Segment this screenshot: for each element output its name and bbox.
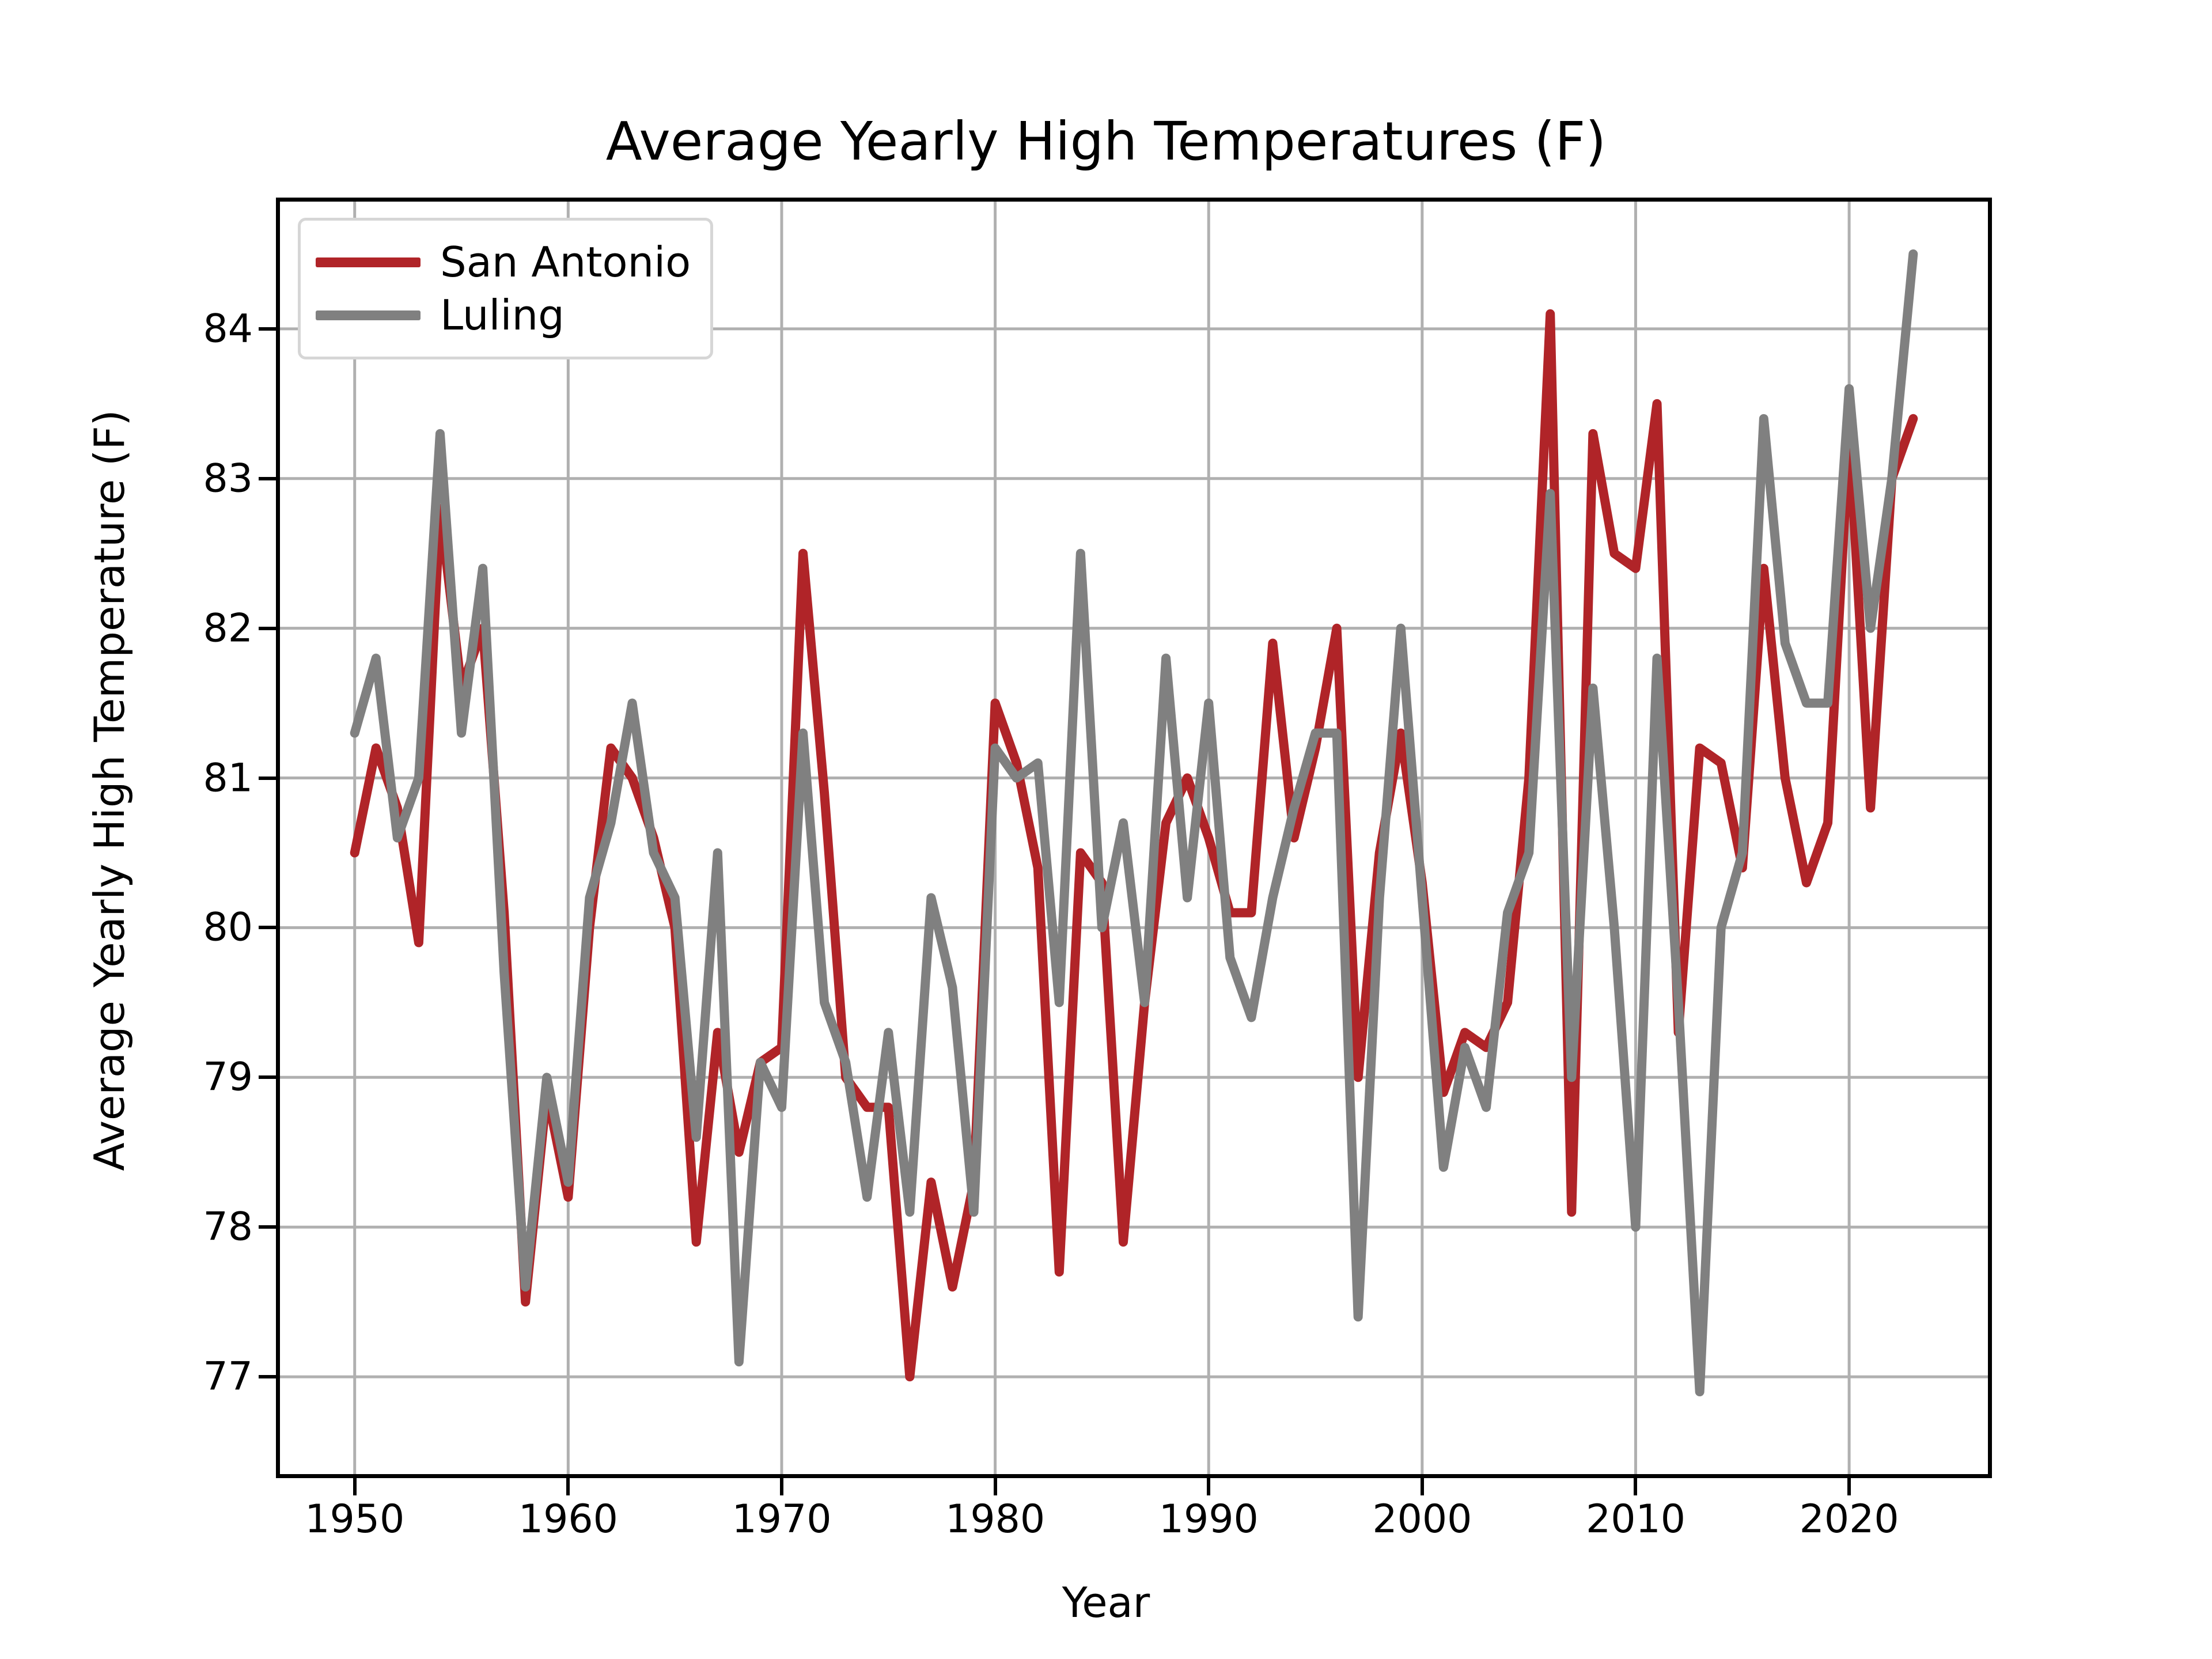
x-tick-label: 2000 (1330, 1497, 1514, 1542)
legend-label-san-antonio: San Antonio (440, 241, 691, 283)
y-tick-mark (259, 1225, 276, 1229)
y-tick-label: 84 (80, 306, 253, 351)
x-tick-label: 2020 (1757, 1497, 1941, 1542)
y-tick-mark (259, 926, 276, 929)
y-tick-label: 78 (80, 1205, 253, 1250)
y-tick-label: 81 (80, 755, 253, 801)
y-tick-mark (259, 327, 276, 331)
data-series-lines (280, 202, 1988, 1474)
chart-title: Average Yearly High Temperatures (F) (0, 111, 2212, 172)
legend-item-san-antonio[interactable]: San Antonio (316, 236, 691, 289)
x-tick-label: 2010 (1543, 1497, 1728, 1542)
y-tick-mark (259, 1075, 276, 1079)
y-tick-label: 80 (80, 905, 253, 950)
chart-figure: Average Yearly High Temperatures (F) Ave… (0, 0, 2212, 1659)
y-tick-mark (259, 627, 276, 630)
y-tick-mark (259, 1375, 276, 1378)
y-tick-mark (259, 477, 276, 480)
x-tick-mark (1847, 1478, 1851, 1495)
x-axis-label: Year (0, 1578, 2212, 1627)
y-tick-label: 79 (80, 1055, 253, 1100)
legend-swatch-san-antonio (316, 257, 421, 267)
x-tick-mark (1421, 1478, 1424, 1495)
x-tick-label: 1950 (263, 1497, 447, 1542)
plot-area (276, 198, 1992, 1478)
legend-item-luling[interactable]: Luling (316, 289, 691, 342)
x-tick-mark (1207, 1478, 1210, 1495)
y-tick-label: 77 (80, 1354, 253, 1400)
x-tick-label: 1960 (476, 1497, 660, 1542)
x-tick-mark (566, 1478, 570, 1495)
chart-legend[interactable]: San Antonio Luling (298, 218, 713, 359)
x-tick-mark (994, 1478, 997, 1495)
x-tick-mark (353, 1478, 357, 1495)
x-tick-label: 1990 (1116, 1497, 1301, 1542)
x-tick-mark (780, 1478, 783, 1495)
x-tick-mark (1634, 1478, 1637, 1495)
y-tick-label: 82 (80, 605, 253, 651)
x-tick-label: 1970 (690, 1497, 874, 1542)
y-tick-label: 83 (80, 456, 253, 501)
legend-label-luling: Luling (440, 294, 565, 336)
y-tick-mark (259, 777, 276, 780)
legend-swatch-luling (316, 310, 421, 320)
x-tick-label: 1980 (903, 1497, 1088, 1542)
